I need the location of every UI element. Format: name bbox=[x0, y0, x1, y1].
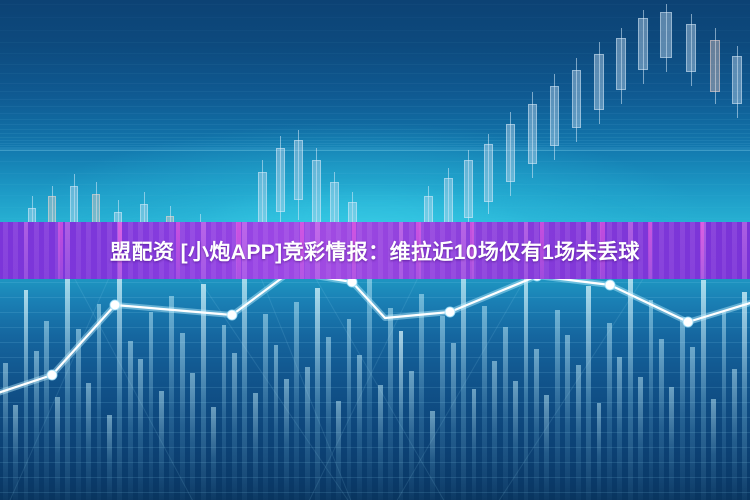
volume-bar-background bbox=[0, 252, 750, 500]
volume-bar bbox=[649, 300, 654, 500]
volume-bar bbox=[201, 284, 206, 500]
candlestick bbox=[276, 136, 285, 226]
grid-line-horizontal bbox=[0, 129, 750, 130]
grid-line-horizontal bbox=[0, 91, 750, 92]
volume-bar bbox=[378, 385, 383, 500]
candlestick-body bbox=[294, 140, 303, 200]
volume-bar bbox=[336, 401, 341, 500]
volume-bar bbox=[315, 288, 320, 500]
volume-bar bbox=[638, 377, 643, 500]
volume-bar bbox=[607, 323, 612, 500]
volume-bar bbox=[430, 411, 435, 500]
volume-bar bbox=[742, 292, 747, 500]
candlestick-body bbox=[686, 24, 696, 72]
grid-line-horizontal bbox=[0, 99, 750, 100]
volume-bar bbox=[284, 379, 289, 500]
candlestick-body bbox=[732, 56, 742, 104]
candlestick bbox=[572, 58, 581, 142]
candlestick bbox=[484, 134, 493, 214]
volume-bar bbox=[138, 359, 143, 500]
grid-line-horizontal bbox=[0, 342, 750, 343]
candlestick bbox=[660, 4, 672, 72]
volume-bar bbox=[544, 395, 549, 500]
volume-bar bbox=[169, 296, 174, 500]
banner-graphic: 盟配资 [小炮APP]竞彩情报：维拉近10场仅有1场未丢球 bbox=[0, 0, 750, 500]
volume-bar bbox=[399, 331, 404, 500]
volume-bar bbox=[190, 373, 195, 500]
candlestick bbox=[710, 28, 720, 104]
grid-line-horizontal bbox=[0, 282, 750, 283]
candlestick bbox=[732, 46, 742, 118]
volume-bar bbox=[565, 335, 570, 500]
candlestick bbox=[528, 92, 537, 178]
grid-line-horizontal bbox=[0, 119, 750, 120]
volume-bar bbox=[55, 397, 60, 500]
volume-bar bbox=[472, 389, 477, 500]
volume-bar bbox=[274, 345, 279, 500]
volume-bar bbox=[44, 321, 49, 500]
volume-bar bbox=[555, 310, 560, 500]
volume-bar bbox=[597, 403, 602, 500]
grid-line-horizontal bbox=[0, 357, 750, 358]
volume-bar bbox=[524, 274, 529, 500]
volume-bar bbox=[211, 407, 216, 500]
volume-bar bbox=[107, 415, 112, 500]
candlestick bbox=[638, 10, 648, 84]
volume-bar bbox=[419, 294, 424, 500]
candlestick-body bbox=[710, 40, 720, 92]
grid-line-horizontal bbox=[0, 106, 750, 107]
volume-bar bbox=[149, 312, 154, 500]
candlestick-body bbox=[572, 70, 581, 128]
sky-background bbox=[0, 0, 750, 252]
candlestick-body bbox=[528, 104, 537, 164]
volume-bar bbox=[86, 383, 91, 500]
grid-line-horizontal bbox=[0, 143, 750, 144]
volume-bar bbox=[617, 357, 622, 500]
volume-bar bbox=[65, 270, 70, 500]
headline-banner: 盟配资 [小炮APP]竞彩情报：维拉近10场仅有1场未丢球 bbox=[0, 222, 750, 279]
volume-bar bbox=[669, 387, 674, 500]
volume-bar bbox=[326, 337, 331, 500]
grid-line-horizontal bbox=[0, 327, 750, 328]
volume-bar bbox=[347, 319, 352, 500]
grid-line-horizontal bbox=[0, 133, 750, 134]
volume-bar bbox=[722, 312, 727, 500]
volume-bar bbox=[159, 391, 164, 500]
grid-line-horizontal bbox=[0, 124, 750, 125]
volume-bar bbox=[263, 314, 268, 500]
volume-bar bbox=[659, 339, 664, 500]
candlestick-body bbox=[506, 124, 515, 182]
volume-bar bbox=[34, 351, 39, 500]
volume-bar bbox=[576, 365, 581, 500]
volume-bar bbox=[76, 329, 81, 500]
candlestick-body bbox=[550, 86, 559, 146]
candlestick-body bbox=[312, 160, 321, 224]
volume-bar bbox=[242, 266, 247, 500]
candlestick-body bbox=[616, 38, 626, 90]
volume-bar bbox=[680, 317, 685, 500]
headline-text: 盟配资 [小炮APP]竞彩情报：维拉近10场仅有1场未丢球 bbox=[0, 222, 750, 279]
volume-bar bbox=[367, 278, 372, 500]
grid-line-horizontal bbox=[0, 312, 750, 313]
volume-bar bbox=[409, 371, 414, 500]
volume-bar bbox=[13, 405, 18, 500]
volume-bar bbox=[503, 327, 508, 500]
candlestick bbox=[294, 130, 303, 220]
volume-bar bbox=[451, 343, 456, 500]
grid-line-horizontal bbox=[0, 372, 750, 373]
candlestick-body bbox=[484, 144, 493, 202]
grid-line-horizontal bbox=[0, 113, 750, 114]
candlestick-body bbox=[276, 148, 285, 212]
volume-bar bbox=[513, 381, 518, 500]
candlestick bbox=[550, 74, 559, 160]
volume-bar bbox=[711, 399, 716, 500]
volume-bar bbox=[701, 280, 706, 500]
candlestick bbox=[506, 112, 515, 196]
grid-line-horizontal bbox=[0, 140, 750, 141]
volume-bar bbox=[222, 325, 227, 500]
candlestick bbox=[594, 42, 604, 124]
volume-bar bbox=[440, 316, 445, 500]
volume-bar bbox=[128, 341, 133, 500]
candlestick-body bbox=[660, 12, 672, 58]
volume-bar bbox=[482, 306, 487, 500]
candlestick bbox=[464, 150, 473, 230]
volume-bar bbox=[690, 347, 695, 500]
volume-bar bbox=[305, 367, 310, 500]
volume-bar bbox=[117, 276, 122, 500]
volume-bar bbox=[732, 369, 737, 500]
candlestick-body bbox=[638, 18, 648, 70]
volume-bar bbox=[628, 272, 633, 500]
volume-bar bbox=[461, 262, 466, 500]
grid-line-horizontal bbox=[0, 297, 750, 298]
candlestick bbox=[616, 28, 626, 104]
volume-bar bbox=[232, 353, 237, 500]
volume-bar bbox=[534, 349, 539, 500]
volume-bar bbox=[388, 308, 393, 500]
candlestick bbox=[686, 14, 696, 86]
volume-bar bbox=[97, 304, 102, 500]
volume-bar bbox=[24, 290, 29, 500]
volume-bar bbox=[492, 361, 497, 500]
candlestick-body bbox=[258, 172, 267, 226]
candlestick-body bbox=[464, 160, 473, 218]
candlestick-body bbox=[594, 54, 604, 110]
volume-bar bbox=[180, 333, 185, 500]
volume-bar bbox=[294, 302, 299, 500]
volume-bar bbox=[253, 393, 258, 500]
volume-bar bbox=[586, 286, 591, 500]
volume-bar bbox=[357, 355, 362, 500]
grid-line-horizontal bbox=[0, 4, 750, 5]
grid-line-horizontal bbox=[0, 137, 750, 138]
volume-bar bbox=[3, 363, 8, 500]
